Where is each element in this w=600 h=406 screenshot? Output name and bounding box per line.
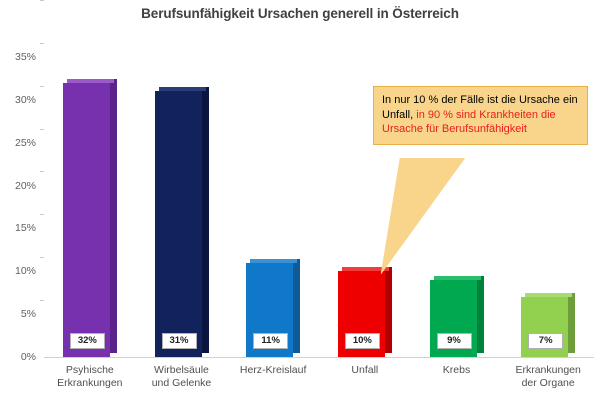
bar-5[interactable]: 9% [430, 276, 484, 357]
chart-container: Berufsunfähigkeit Ursachen generell in Ö… [0, 0, 600, 406]
y-axis-tick-label: 15% [15, 222, 36, 234]
x-axis-category-label: Unfall [319, 364, 411, 377]
bar-side-face [477, 276, 484, 353]
y-axis-tick-mark [40, 214, 44, 215]
x-axis-category-label: Krebs [411, 364, 503, 377]
y-axis-tick-label: 5% [21, 308, 36, 320]
x-axis-category-label: Erkrankungender Organe [502, 364, 594, 390]
bar-side-face [110, 79, 117, 353]
bar-4[interactable]: 10% [338, 267, 392, 357]
x-axis-category-label: Herz-Kreislauf [227, 364, 319, 377]
bar-value-label: 11% [253, 333, 288, 349]
x-axis-category-label: PsyhischeErkrankungen [44, 364, 136, 390]
y-axis-tick-mark [40, 257, 44, 258]
bar-2[interactable]: 31% [155, 87, 209, 357]
y-axis-tick-label: 10% [15, 265, 36, 277]
y-axis: 0%5%10%15%20%25%30%35% [0, 57, 44, 357]
bar-side-face [385, 267, 392, 353]
bar-value-label: 7% [528, 333, 563, 349]
y-axis-tick-label: 35% [15, 51, 36, 63]
bar-6[interactable]: 7% [521, 293, 575, 357]
bar-1[interactable]: 32% [63, 79, 117, 357]
bar-front-face [155, 91, 202, 357]
bar-side-face [293, 259, 300, 353]
y-axis-tick-label: 0% [21, 351, 36, 363]
bar-value-label: 9% [437, 333, 472, 349]
bar-value-label: 32% [70, 333, 105, 349]
y-axis-tick-label: 30% [15, 94, 36, 106]
x-axis-line [44, 357, 594, 358]
bar-value-label: 10% [345, 333, 380, 349]
y-axis-tick-mark [40, 86, 44, 87]
bar-side-face [202, 87, 209, 353]
y-axis-tick-mark [40, 0, 44, 1]
x-axis-category-label: Wirbelsäuleund Gelenke [136, 364, 228, 390]
chart-title: Berufsunfähigkeit Ursachen generell in Ö… [0, 6, 600, 21]
bar-3[interactable]: 11% [246, 259, 300, 357]
unfall-callout: In nur 10 % der Fälle ist die Ursache ei… [373, 86, 588, 145]
y-axis-tick-mark [40, 300, 44, 301]
y-axis-tick-label: 25% [15, 137, 36, 149]
bar-front-face [63, 83, 110, 357]
bar-value-label: 31% [162, 333, 197, 349]
y-axis-tick-mark [40, 43, 44, 44]
bar-side-face [568, 293, 575, 353]
y-axis-tick-mark [40, 171, 44, 172]
y-axis-tick-mark [40, 129, 44, 130]
y-axis-tick-label: 20% [15, 180, 36, 192]
